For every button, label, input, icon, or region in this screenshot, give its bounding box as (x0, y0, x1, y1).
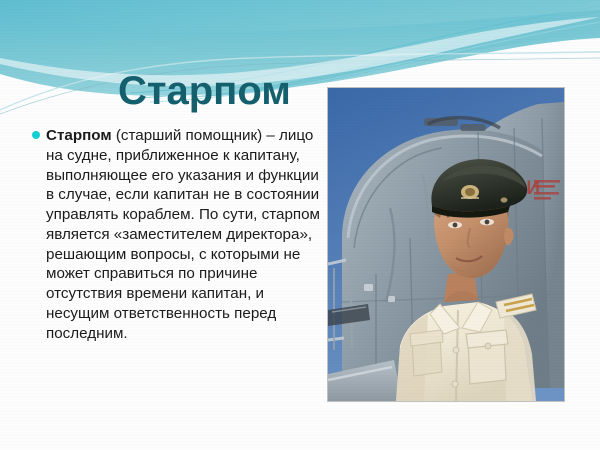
officer-photo-graphic: ПРИ (328, 88, 564, 401)
slide-title: Старпом (118, 70, 291, 112)
lead-term: Старпом (46, 127, 112, 144)
bullet-dot-icon (32, 131, 40, 139)
presentation-slide: Старпом Старпом (старший помощник) – лиц… (0, 0, 600, 450)
bullet-text: Старпом (старший помощник) – лицо на суд… (46, 126, 330, 343)
content-body: Старпом (старший помощник) – лицо на суд… (30, 126, 330, 343)
officer-photo: ПРИ (328, 88, 564, 401)
definition-text: (старший помощник) – лицо на судне, приб… (46, 127, 320, 342)
bullet-list-item: Старпом (старший помощник) – лицо на суд… (30, 126, 330, 343)
